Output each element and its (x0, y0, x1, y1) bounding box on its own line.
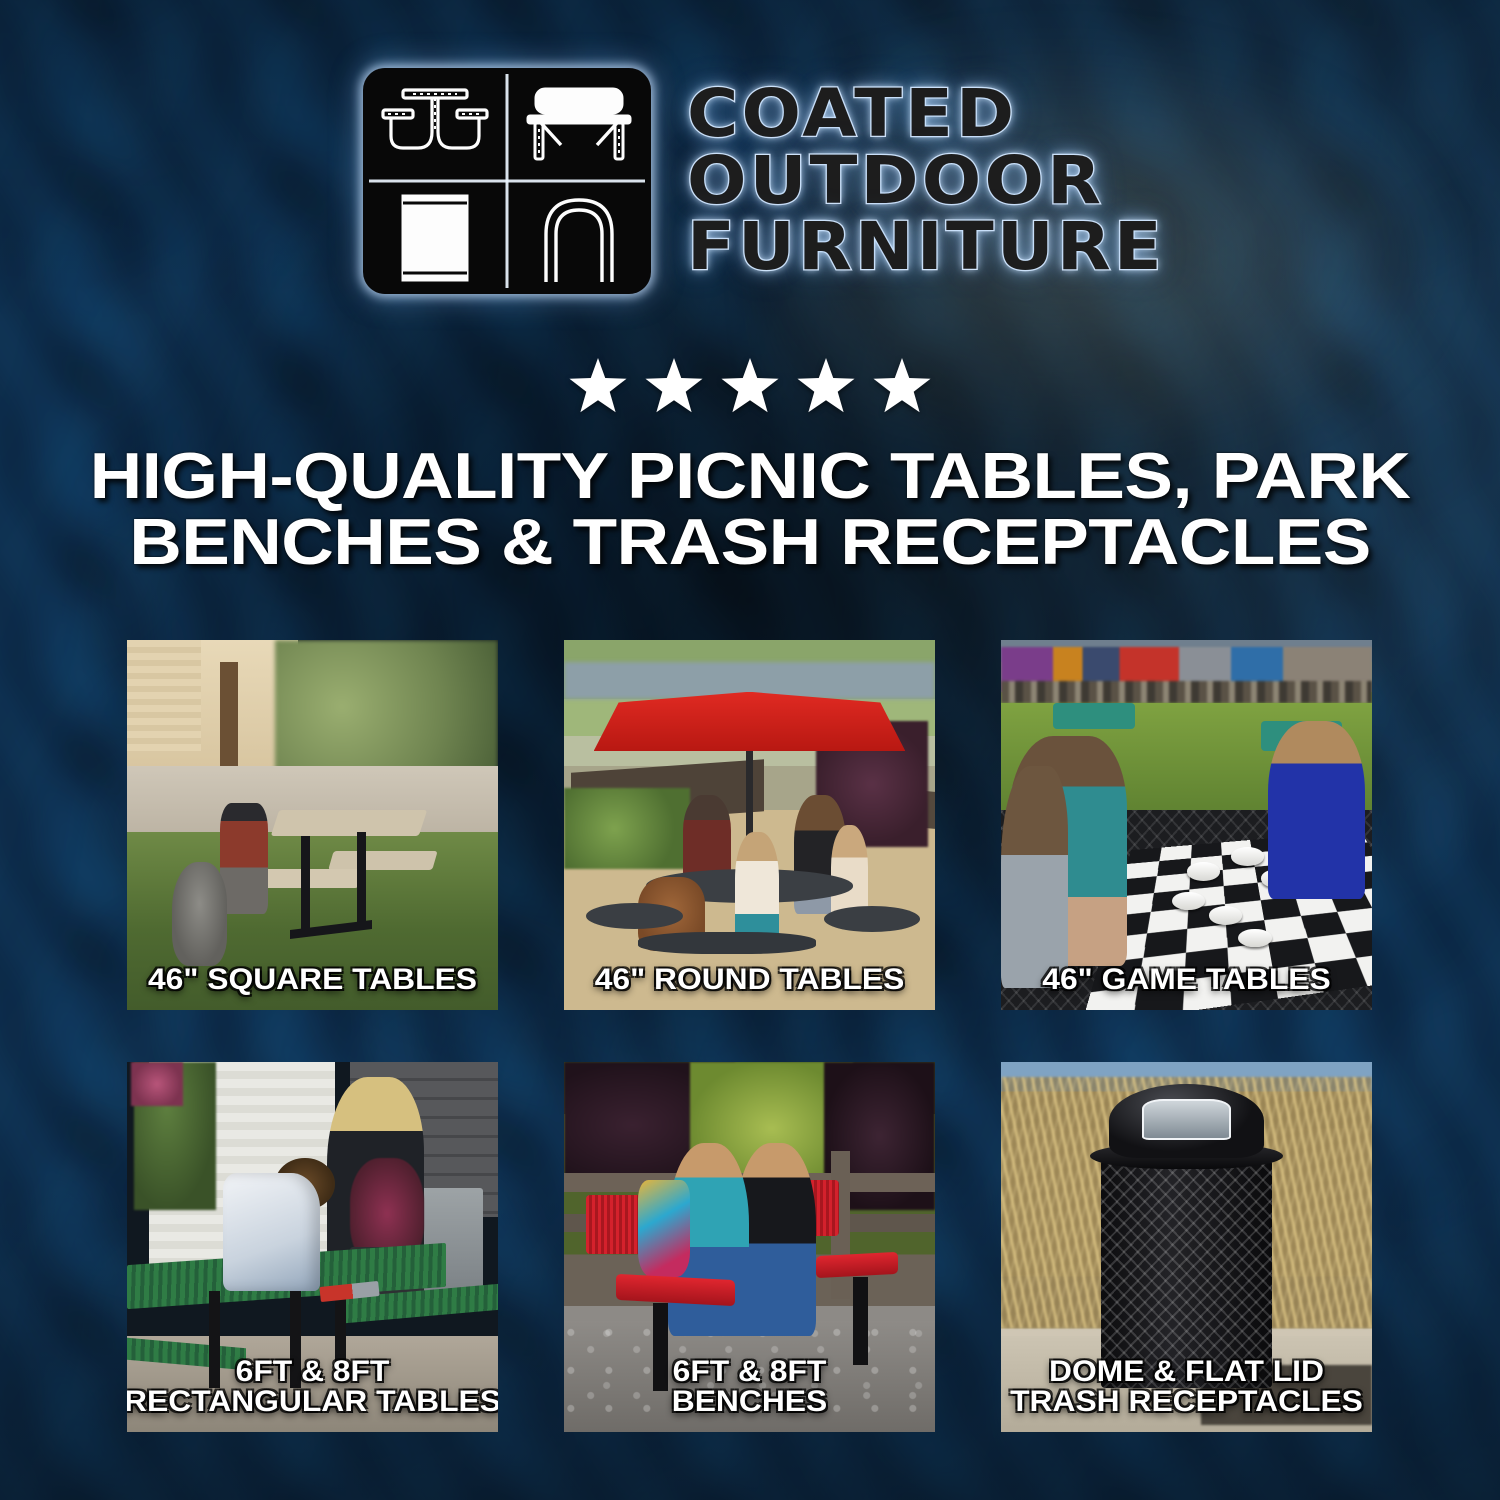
tile-caption-line-1: 6FT & 8FT (564, 1357, 935, 1388)
scene-person-child (735, 832, 780, 943)
scene-dome-opening (1142, 1099, 1231, 1140)
scene-bench-pedestal-right (853, 1277, 868, 1366)
scene-checker-piece (1231, 847, 1264, 866)
scene-bush-green (564, 788, 690, 869)
product-tile-game-tables[interactable]: 46" GAME TABLES (1001, 640, 1372, 1010)
scene-bench-backrest-left (586, 1195, 645, 1254)
scene-crowd (1001, 681, 1372, 703)
company-logo-mark (363, 68, 651, 294)
product-tile-benches[interactable]: 6FT & 8FT BENCHES (564, 1062, 935, 1432)
brand-name-line-1: COATED (687, 82, 1165, 147)
photo-game-tables (1001, 640, 1372, 1010)
scene-flowers (131, 1062, 183, 1106)
product-tile-grid: 46" SQUARE TABLES (127, 640, 1375, 1432)
tile-caption: 46" SQUARE TABLES (127, 965, 498, 996)
scene-person-girl (1001, 766, 1068, 988)
star-icon (871, 358, 933, 418)
scene-trees (275, 640, 498, 773)
photo-round-tables (564, 640, 935, 1010)
tile-caption-line-1: 6FT & 8FT (127, 1357, 498, 1388)
scene-checker-piece (1209, 906, 1242, 925)
headline-line-1: HIGH-QUALITY PICNIC TABLES, PARK (11, 443, 1489, 509)
scene-mesh-receptacle (1101, 1158, 1272, 1387)
brand-name-line-3: FURNITURE (687, 215, 1165, 280)
headline-line-2: BENCHES & TRASH RECEPTACLES (11, 509, 1489, 575)
logo-divider-horizontal (369, 180, 645, 183)
tile-caption: DOME & FLAT LID TRASH RECEPTACLES (1001, 1357, 1372, 1418)
scene-table-top (271, 810, 428, 836)
tile-caption-line-1: 46" SQUARE TABLES (127, 965, 498, 996)
tile-caption: 6FT & 8FT BENCHES (564, 1357, 935, 1418)
scene-person-boy (1268, 721, 1364, 899)
tile-caption: 46" ROUND TABLES (564, 965, 935, 996)
tile-caption-line-1: 46" GAME TABLES (1001, 965, 1372, 996)
product-tile-round-tables[interactable]: 46" ROUND TABLES (564, 640, 935, 1010)
page-title: HIGH-QUALITY PICNIC TABLES, PARK BENCHES… (90, 443, 1410, 576)
brand-name-line-2: OUTDOOR (687, 149, 1165, 214)
scene-siding (127, 640, 201, 751)
brand-name: COATED OUTDOOR FURNITURE (687, 82, 1138, 280)
star-icon (795, 358, 857, 418)
scene-door (220, 662, 239, 766)
star-icon (643, 358, 705, 418)
scene-bench-far (328, 851, 437, 870)
picnic-table-icon (363, 68, 507, 181)
scene-checker-piece (1187, 862, 1220, 881)
product-tile-trash-receptacles[interactable]: DOME & FLAT LID TRASH RECEPTACLES (1001, 1062, 1372, 1432)
tile-caption-line-2: RECTANGULAR TABLES (127, 1387, 498, 1418)
star-icon (719, 358, 781, 418)
product-tile-rectangular-tables[interactable]: 6FT & 8FT RECTANGULAR TABLES (127, 1062, 498, 1432)
park-bench-icon (507, 68, 651, 181)
promo-banner: COATED OUTDOOR FURNITURE HIGH-QUALITY PI… (0, 0, 1500, 1500)
star-rating (0, 358, 1500, 418)
star-icon (567, 358, 629, 418)
tile-caption-line-1: 46" ROUND TABLES (564, 965, 935, 996)
scene-table-leg-1 (301, 836, 310, 932)
brand-header: COATED OUTDOOR FURNITURE (0, 68, 1500, 294)
scene-checker-piece (1172, 892, 1205, 911)
tile-caption: 46" GAME TABLES (1001, 965, 1372, 996)
scene-table-leg-2 (357, 832, 366, 928)
tile-caption-line-2: BENCHES (564, 1387, 935, 1418)
scene-backpack (638, 1180, 690, 1276)
photo-square-tables (127, 640, 498, 1010)
scene-soil-bag (223, 1173, 319, 1291)
scene-checker-piece (1238, 929, 1271, 948)
tile-caption: 6FT & 8FT RECTANGULAR TABLES (127, 1357, 498, 1418)
bike-rack-arch-icon (507, 181, 651, 294)
scene-green-table-1 (1053, 703, 1135, 729)
scene-seat-left (586, 903, 682, 929)
tile-caption-line-2: TRASH RECEPTACLES (1001, 1387, 1372, 1418)
scene-seat-front (638, 932, 816, 954)
product-tile-square-tables[interactable]: 46" SQUARE TABLES (127, 640, 498, 1010)
scene-dog (172, 862, 228, 966)
scene-person (220, 803, 268, 914)
tile-caption-line-1: DOME & FLAT LID (1001, 1357, 1372, 1388)
trash-receptacle-icon (363, 181, 507, 294)
